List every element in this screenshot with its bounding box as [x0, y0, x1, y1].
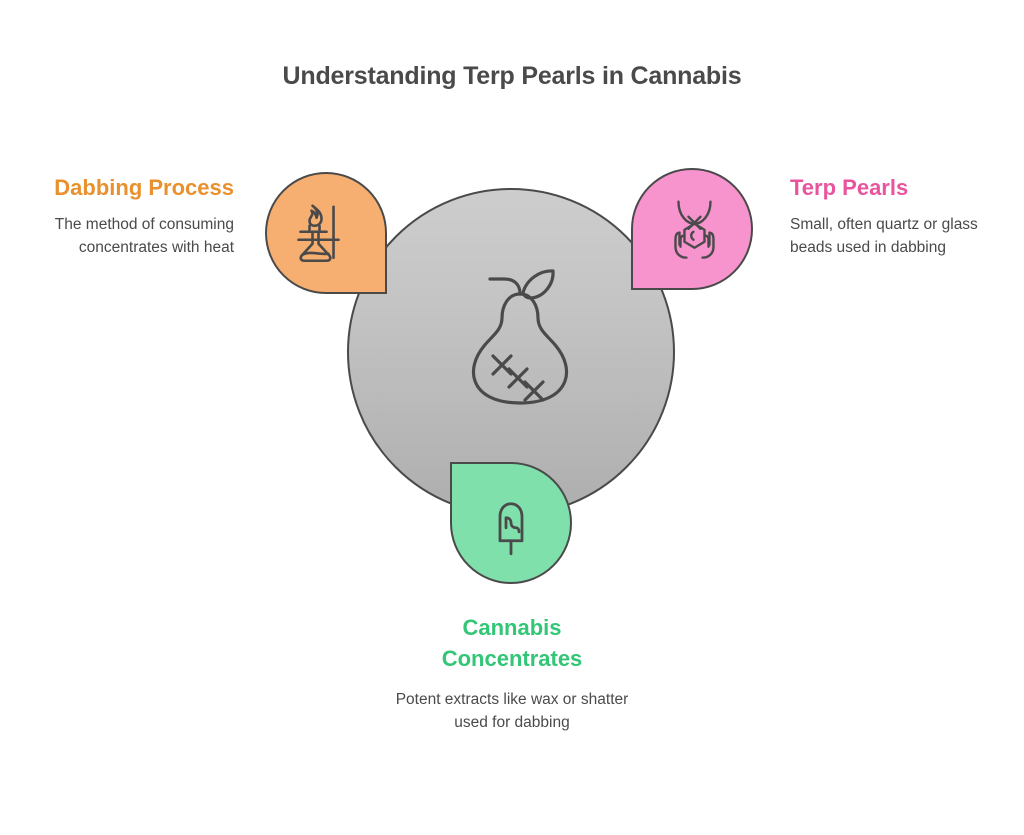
label-description-cannabis-concentrates: Potent extracts like wax or shatter used… [392, 688, 632, 734]
label-cannabis-concentrates: Cannabis Concentrates Potent extracts li… [392, 612, 632, 734]
node-marker-terp-pearls[interactable] [631, 168, 753, 290]
node-marker-dabbing-process[interactable] [265, 172, 387, 294]
node-marker-cannabis-concentrates[interactable] [450, 462, 572, 584]
page-title: Understanding Terp Pearls in Cannabis [0, 62, 1024, 91]
hands-holding-pendant-necklace-icon [663, 197, 725, 259]
label-description-terp-pearls: Small, often quartz or glass beads used … [790, 213, 1002, 259]
label-heading-terp-pearls: Terp Pearls [790, 172, 1002, 203]
label-heading-dabbing-process: Dabbing Process [22, 172, 234, 203]
pear-icon [452, 262, 588, 408]
label-heading-cannabis-concentrates: Cannabis Concentrates [392, 612, 632, 674]
bunsen-burner-flask-icon [293, 201, 355, 263]
popsicle-icon [480, 496, 542, 558]
label-terp-pearls: Terp Pearls Small, often quartz or glass… [790, 172, 1002, 259]
label-dabbing-process: Dabbing Process The method of consuming … [22, 172, 234, 259]
label-description-dabbing-process: The method of consuming concentrates wit… [22, 213, 234, 259]
